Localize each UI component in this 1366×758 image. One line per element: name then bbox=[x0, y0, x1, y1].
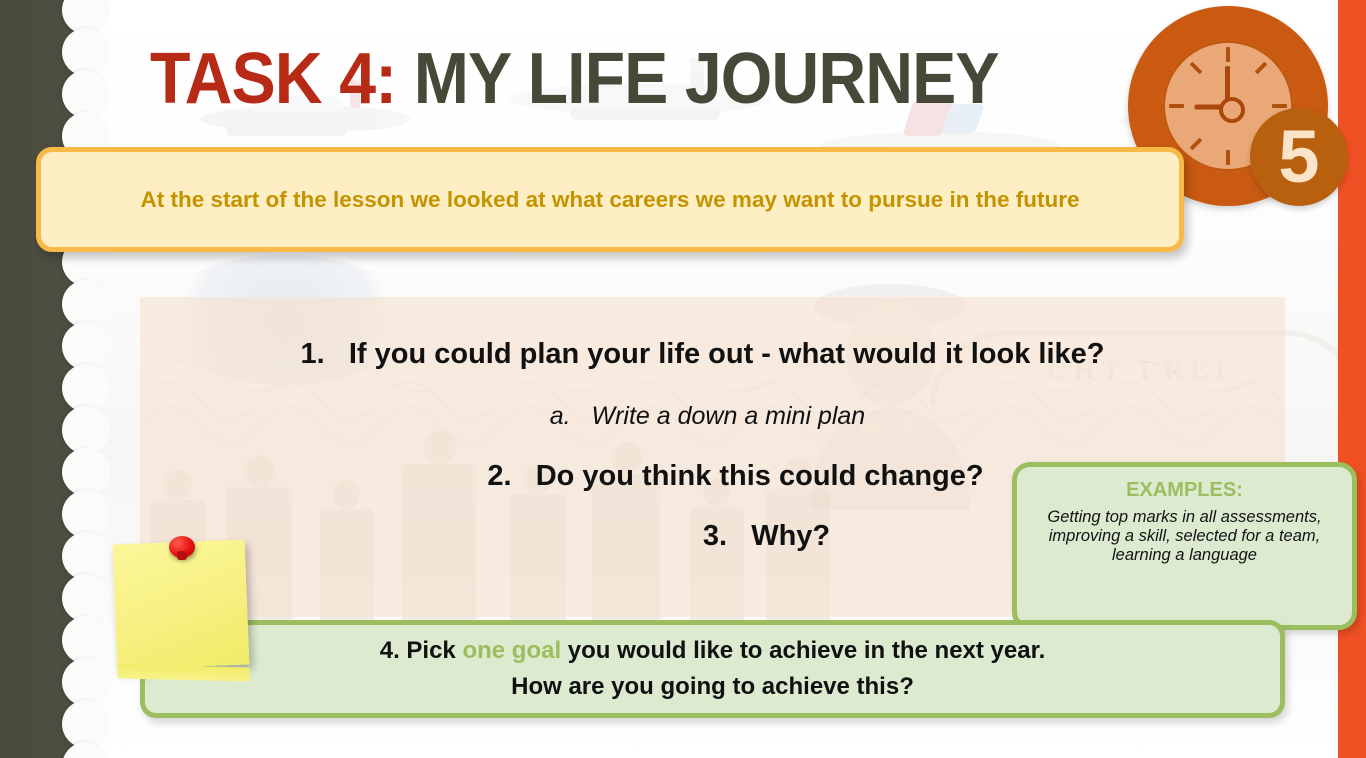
question-3-text: Why? bbox=[751, 520, 830, 552]
intro-banner-text: At the start of the lesson we looked at … bbox=[60, 183, 1160, 217]
pushpin-icon bbox=[169, 536, 195, 560]
question-a-marker: a. bbox=[550, 402, 571, 430]
sticky-note-fold bbox=[117, 664, 250, 681]
examples-heading: EXAMPLES: bbox=[1031, 477, 1338, 503]
page-title: TASK 4: MY LIFE JOURNEY bbox=[150, 36, 1070, 126]
goal-banner-line-1: 4. Pick one goal you would like to achie… bbox=[380, 633, 1046, 669]
question-a-text: Write a down a mini plan bbox=[591, 402, 865, 430]
page-title-highlight: TASK 4: bbox=[150, 39, 396, 119]
wavy-edge-decoration bbox=[62, 0, 110, 758]
question-1-text: If you could plan your life out - what w… bbox=[349, 338, 1105, 370]
goal-line1-highlight: one goal bbox=[462, 637, 561, 664]
question-2-text: Do you think this could change? bbox=[536, 460, 984, 492]
question-2-marker: 2. bbox=[487, 460, 511, 492]
pushpin-nub bbox=[177, 551, 187, 560]
timer-minutes: 5 bbox=[1250, 108, 1348, 206]
question-1-marker: 1. bbox=[301, 338, 325, 370]
examples-body: Getting top marks in all assessments, im… bbox=[1031, 508, 1338, 565]
goal-line1-after: you would like to achieve in the next ye… bbox=[561, 637, 1045, 664]
page-title-rest: MY LIFE JOURNEY bbox=[396, 39, 998, 119]
slide-canvas: CHT FREI TASK 4: MY LIFE JOURNEY bbox=[0, 0, 1366, 758]
timer-badge: 5 bbox=[1250, 108, 1348, 206]
clock-pivot bbox=[1219, 97, 1245, 123]
question-3-marker: 3. bbox=[703, 520, 727, 552]
examples-box: EXAMPLES: Getting top marks in all asses… bbox=[1012, 462, 1357, 630]
intro-banner: At the start of the lesson we looked at … bbox=[36, 147, 1184, 252]
goal-banner: 4. Pick one goal you would like to achie… bbox=[140, 620, 1285, 718]
question-item-1: 1. If you could plan your life out - wha… bbox=[140, 337, 1285, 371]
goal-banner-line-2: How are you going to achieve this? bbox=[511, 669, 914, 705]
goal-line1-before: 4. Pick bbox=[380, 637, 463, 664]
question-item-a: a. Write a down a mini plan bbox=[140, 399, 1285, 433]
